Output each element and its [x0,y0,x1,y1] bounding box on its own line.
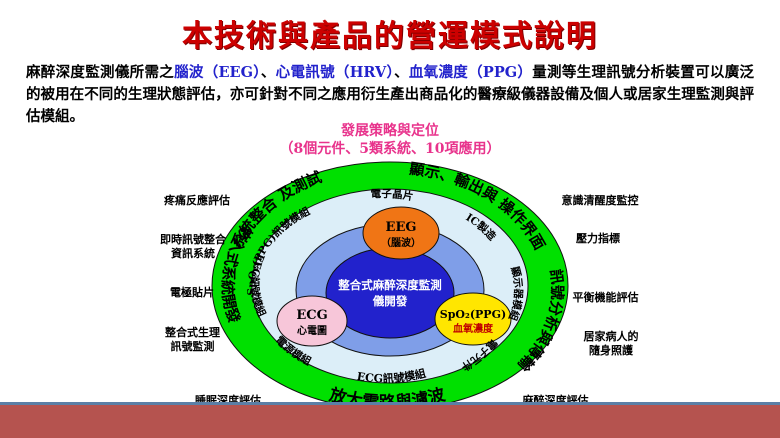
paragraph-highlight-hrv: 心電訊號（HRV） [276,64,394,81]
concentric-diagram: 整合式麻醉深度監測 儀開發 EEG （腦波） ECG 心電圖 SpO₂(PPG)… [205,160,575,412]
node-spo2-sublabel: 血氧濃度 [453,322,494,335]
diagram-heading-line2: （8個元件、5類系統、10項應用） [0,140,780,158]
paragraph-separator-1: 、 [261,64,276,81]
app-label-stress-index: 壓力指標 [548,232,648,246]
paragraph-segment-1: 麻醉深度監測儀所需之 [26,64,174,81]
paragraph-separator-2: 、 [394,64,409,81]
paragraph-highlight-eeg: 腦波（EEG） [174,64,261,81]
app-label-home-care: 居家病人的 隨身照護 [556,330,666,358]
node-eeg-sublabel: （腦波） [381,236,421,249]
app-label-pain-response: 疼痛反應評估 [142,194,252,208]
app-label-realtime-signal-sys: 即時訊號整合 資訊系統 [138,233,248,261]
app-label-consciousness: 意識清醒度監控 [540,194,660,208]
app-label-balance-function: 平衡機能評估 [548,291,663,305]
node-ecg-sublabel: 心電圖 [297,325,327,337]
footer-band [0,405,780,438]
slide-canvas: 本技術與產品的營運模式說明 麻醉深度監測儀所需之腦波（EEG）、心電訊號（HRV… [0,0,780,438]
node-spo2-label: SpO₂(PPG) [440,308,506,321]
app-label-electrode-patch: 電極貼片 [142,286,242,300]
core-label-line2: 儀開發 [372,294,408,308]
page-title: 本技術與產品的營運模式說明 [0,11,780,55]
diagram-heading-line1: 發展策略與定位 [0,123,780,140]
intro-paragraph: 麻醉深度監測儀所需之腦波（EEG）、心電訊號（HRV）、血氧濃度（PPG）量測等… [26,62,754,128]
node-eeg-label: EEG [386,220,417,235]
app-label-integrated-physio: 整合式生理 訊號監測 [140,326,245,354]
core-label-line1: 整合式麻醉深度監測 [337,278,442,292]
node-ecg-label: ECG [296,308,327,323]
paragraph-highlight-ppg: 血氧濃度（PPG） [409,64,532,81]
diagram-heading: 發展策略與定位 （8個元件、5類系統、10項應用） [0,123,780,158]
